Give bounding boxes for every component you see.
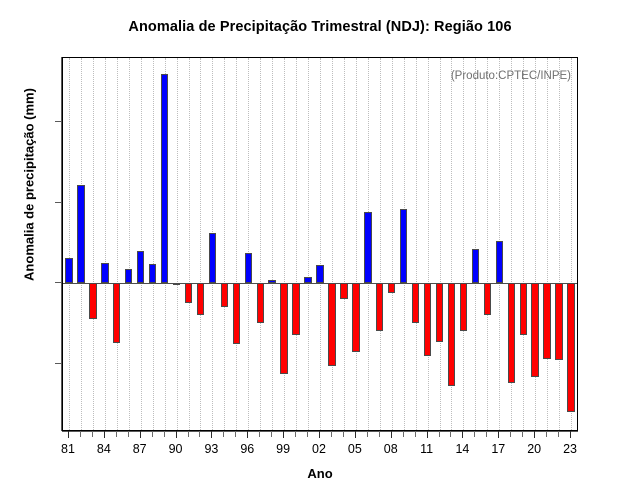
x-tick: [80, 431, 81, 437]
x-tick: [367, 431, 368, 437]
bar-19: [520, 283, 527, 334]
bar-18: [508, 283, 515, 383]
bar-94: [221, 283, 228, 307]
x-tick-label: 14: [455, 442, 469, 456]
bar-87: [137, 251, 144, 283]
bar-88: [149, 264, 156, 283]
x-tick: [343, 431, 344, 437]
x-tick: [92, 431, 93, 437]
x-tick: [427, 431, 428, 438]
bar-05: [352, 283, 359, 352]
x-tick: [116, 431, 117, 437]
bar-84: [101, 263, 108, 283]
x-tick: [379, 431, 380, 437]
page-title: Anomalia de Precipitação Trimestral (NDJ…: [0, 19, 640, 35]
x-tick: [247, 431, 248, 438]
y-tick: [55, 363, 62, 364]
x-tick: [259, 431, 260, 437]
x-tick-label: 08: [384, 442, 398, 456]
x-tick-label: 87: [133, 442, 147, 456]
bar-86: [125, 269, 132, 283]
bar-13: [448, 283, 455, 386]
bar-01: [304, 277, 311, 283]
bar-16: [484, 283, 491, 315]
x-tick: [164, 431, 165, 437]
bar-series: [63, 58, 577, 430]
x-tick: [331, 431, 332, 437]
x-tick: [199, 431, 200, 437]
bar-11: [424, 283, 431, 355]
x-tick: [355, 431, 356, 438]
x-tick: [498, 431, 499, 438]
x-tick: [68, 431, 69, 438]
y-axis: 4002000-200: [54, 57, 62, 431]
x-axis: 818487909396990205081114172023: [62, 431, 578, 441]
x-tick: [104, 431, 105, 438]
plot-area: (Produto:CPTEC/INPE): [62, 57, 578, 431]
bar-95: [233, 283, 240, 344]
bar-98: [268, 280, 275, 283]
x-tick: [546, 431, 547, 437]
bar-81: [65, 258, 72, 283]
bar-83: [89, 283, 96, 318]
x-tick: [462, 431, 463, 438]
bar-21: [543, 283, 550, 359]
x-tick-label: 05: [348, 442, 362, 456]
x-tick: [211, 431, 212, 438]
x-tick: [223, 431, 224, 437]
x-tick-label: 84: [97, 442, 111, 456]
y-tick: [55, 121, 62, 122]
y-axis-title: Anomalia de precipitação (mm): [22, 35, 37, 335]
bar-97: [257, 283, 264, 323]
bar-12: [436, 283, 443, 341]
x-tick-label: 90: [169, 442, 183, 456]
x-tick: [403, 431, 404, 437]
bar-06: [364, 212, 371, 284]
bar-85: [113, 283, 120, 343]
x-tick: [283, 431, 284, 438]
x-axis-title: Ano: [0, 466, 640, 481]
x-tick: [391, 431, 392, 438]
bar-07: [376, 283, 383, 331]
bar-91: [185, 283, 192, 303]
source-annotation: (Produto:CPTEC/INPE): [451, 70, 571, 82]
x-tick: [474, 431, 475, 437]
bar-23: [567, 283, 574, 412]
x-tick: [319, 431, 320, 438]
x-tick: [570, 431, 571, 438]
bar-04: [340, 283, 347, 299]
x-tick: [295, 431, 296, 437]
bar-10: [412, 283, 419, 323]
bar-92: [197, 283, 204, 314]
chart-root: Anomalia de Precipitação Trimestral (NDJ…: [0, 0, 640, 500]
x-tick-label: 93: [204, 442, 218, 456]
bar-14: [460, 283, 467, 331]
x-tick-label: 23: [563, 442, 577, 456]
bar-93: [209, 233, 216, 283]
x-tick-label: 81: [61, 442, 75, 456]
bar-22: [555, 283, 562, 359]
x-tick: [235, 431, 236, 437]
x-tick: [534, 431, 535, 438]
bar-09: [400, 209, 407, 283]
bar-20: [531, 283, 538, 376]
bar-02: [316, 265, 323, 283]
bar-99: [280, 283, 287, 373]
x-tick: [450, 431, 451, 437]
x-tick: [510, 431, 511, 437]
x-tick-label: 20: [527, 442, 541, 456]
bar-03: [328, 283, 335, 365]
x-tick: [176, 431, 177, 438]
x-tick: [486, 431, 487, 437]
bar-00: [292, 283, 299, 335]
x-tick: [558, 431, 559, 437]
x-tick: [439, 431, 440, 437]
x-tick: [522, 431, 523, 437]
x-tick: [415, 431, 416, 437]
x-tick: [271, 431, 272, 437]
x-tick-label: 11: [420, 442, 433, 456]
bar-82: [77, 185, 84, 284]
bar-89: [161, 74, 168, 283]
x-tick-label: 17: [491, 442, 505, 456]
bar-96: [245, 253, 252, 283]
bar-15: [472, 249, 479, 283]
y-tick: [55, 202, 62, 203]
y-tick: [55, 282, 62, 283]
x-tick-label: 02: [312, 442, 326, 456]
x-tick: [307, 431, 308, 437]
x-tick-label: 96: [240, 442, 254, 456]
x-tick: [152, 431, 153, 437]
bar-08: [388, 283, 395, 293]
x-tick-label: 99: [276, 442, 290, 456]
x-tick: [188, 431, 189, 437]
bar-90: [173, 283, 180, 285]
x-tick: [140, 431, 141, 438]
x-tick: [128, 431, 129, 437]
bar-17: [496, 241, 503, 283]
